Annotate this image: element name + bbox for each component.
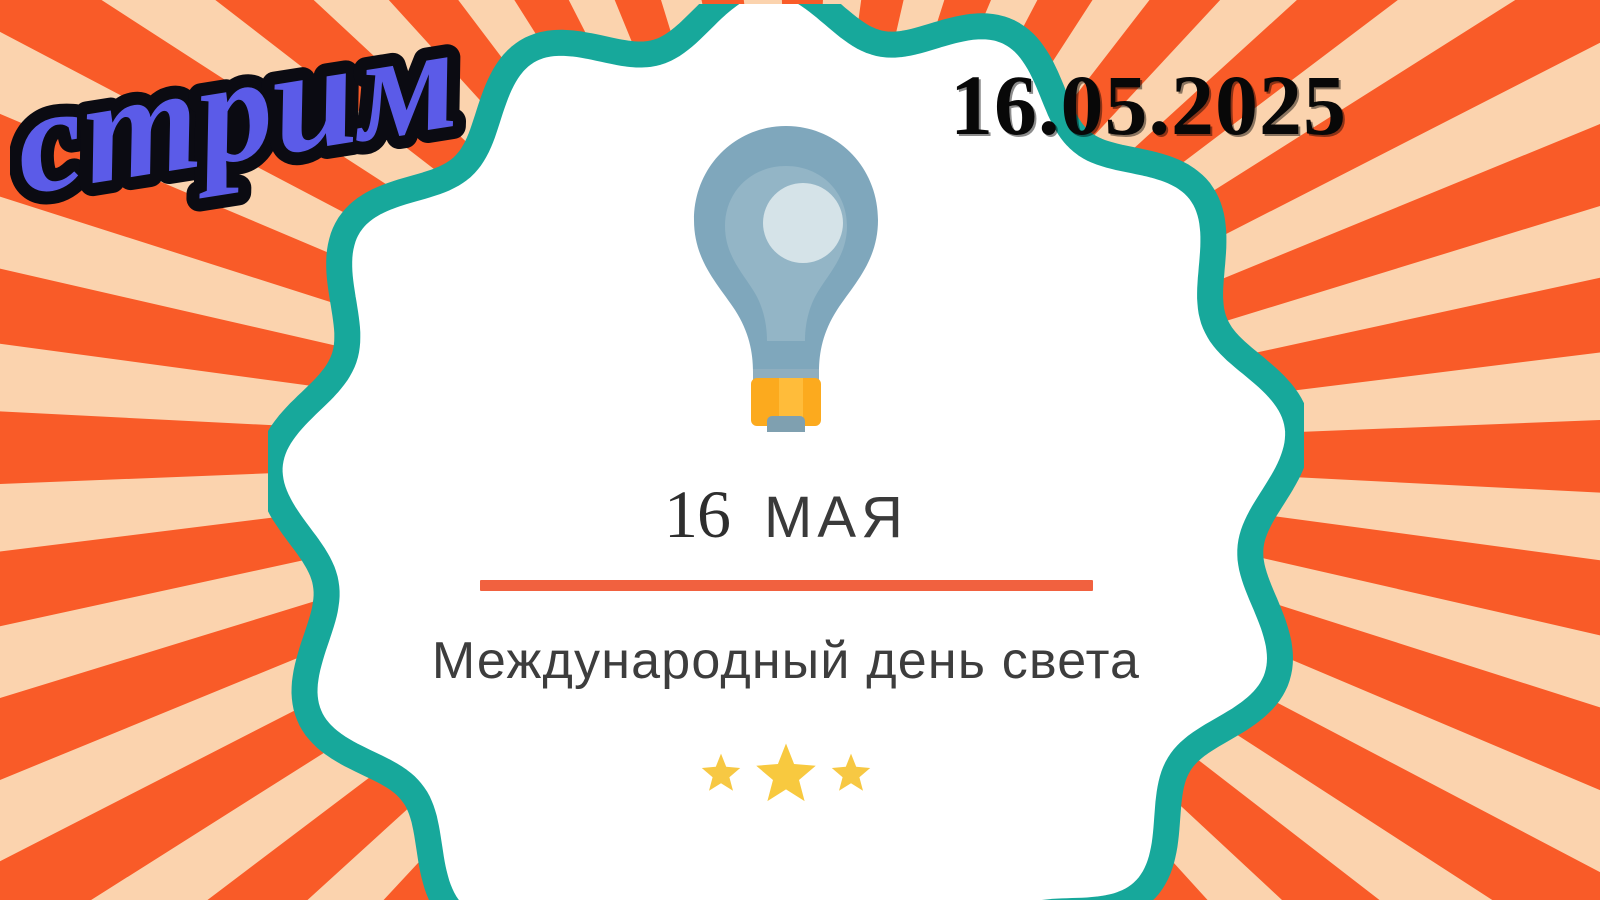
- holiday-subtitle: Международный день света: [432, 631, 1140, 691]
- star-row: [701, 741, 871, 803]
- date-heading: 16 МАЯ: [664, 480, 908, 548]
- light-bulb-icon: [679, 120, 893, 432]
- month-name: МАЯ: [764, 489, 908, 547]
- poster-canvas: 16 МАЯ Международный день света стрим ст…: [0, 0, 1600, 900]
- script-word-fill: стрим: [10, 44, 468, 227]
- day-number: 16: [664, 480, 730, 548]
- star-right-icon: [831, 752, 871, 792]
- event-date-label: 16.05.2025: [950, 62, 1347, 148]
- divider-rule: [480, 580, 1093, 591]
- star-left-icon: [701, 752, 741, 792]
- star-center-icon: [755, 741, 817, 803]
- script-word-stream: стрим стрим: [10, 44, 510, 254]
